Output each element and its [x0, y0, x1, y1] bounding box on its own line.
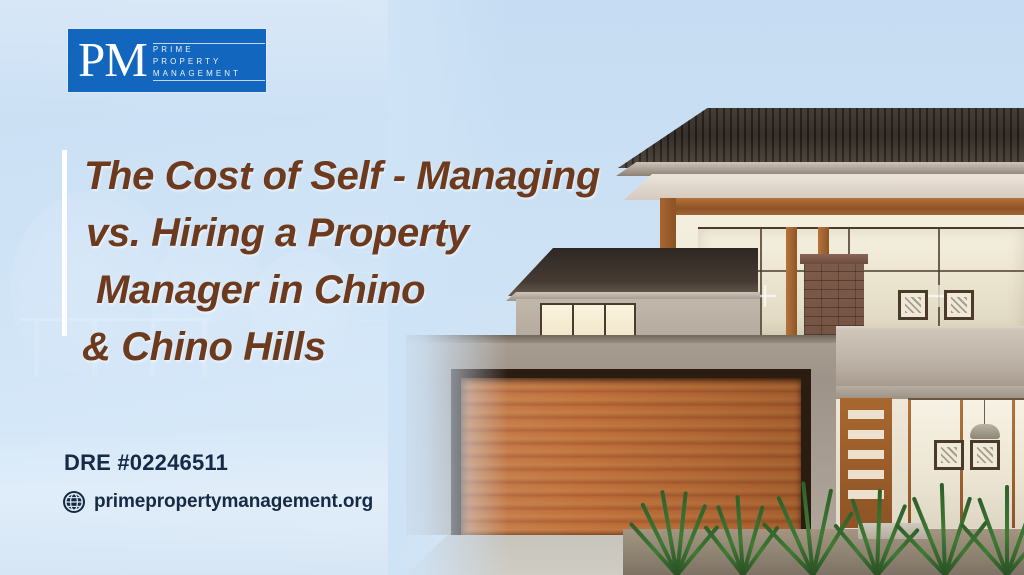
pendant-light [970, 424, 1000, 439]
door-slat [848, 450, 884, 459]
window-mullion [938, 229, 940, 335]
logo-wordmark: PRIME PROPERTY MANAGEMENT [153, 41, 265, 81]
plant-blade [1005, 485, 1009, 575]
brick-column-cap [800, 254, 868, 264]
balcony-slab [836, 330, 1024, 386]
dre-license-number: DRE #02246511 [64, 450, 228, 476]
headline-line-1: The Cost of Self - Managing [84, 148, 724, 205]
logo-rule-bottom [153, 80, 265, 81]
website-row[interactable]: primepropertymanagement.org [62, 490, 373, 514]
door-slat [848, 410, 884, 419]
property-management-banner: PM PRIME PROPERTY MANAGEMENT The Cost of… [0, 0, 1024, 575]
wall-art [944, 290, 974, 320]
pendant-light-cord [984, 400, 985, 426]
page-title: The Cost of Self - Managing vs. Hiring a… [84, 148, 724, 376]
logo-word-property: PROPERTY [153, 56, 265, 68]
wall-art [934, 440, 964, 470]
door-slat [848, 470, 884, 479]
yucca-plant [840, 489, 910, 575]
door-slat [848, 430, 884, 439]
window-mullion [760, 229, 762, 335]
logo-word-management: MANAGEMENT [153, 68, 265, 80]
yucca-plant [640, 487, 710, 575]
wall-art [898, 290, 928, 320]
yucca-plant [706, 495, 776, 575]
yucca-plant [970, 485, 1024, 575]
company-logo[interactable]: PM PRIME PROPERTY MANAGEMENT [68, 29, 266, 92]
plant-blade [943, 496, 972, 575]
website-url[interactable]: primepropertymanagement.org [94, 491, 373, 513]
headline-line-2: vs. Hiring a Property [86, 205, 724, 262]
headline-line-3: Manager in Chino [96, 262, 724, 319]
globe-icon [62, 490, 86, 514]
timber-door-frame [786, 227, 797, 335]
ghost-porch-post [34, 321, 39, 377]
logo-monogram: PM [78, 35, 147, 84]
headline-accent-bar [62, 150, 67, 336]
logo-word-prime: PRIME [153, 44, 265, 56]
headline-line-4: & Chino Hills [82, 319, 724, 376]
wall-art [970, 440, 1000, 470]
